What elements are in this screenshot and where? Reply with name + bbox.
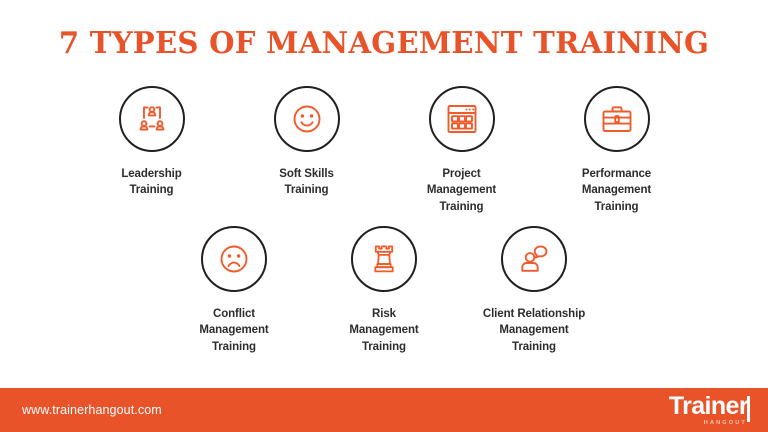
item-performance-management-training[interactable]: Performance Management Training xyxy=(539,86,694,215)
item-conflict-management-training[interactable]: Conflict Management Training xyxy=(159,226,309,355)
item-client-relationship-management-training[interactable]: Client Relationship Management Training xyxy=(459,226,609,355)
item-label: Project Management Training xyxy=(427,166,496,215)
item-project-management-training[interactable]: Project Management Training xyxy=(384,86,539,215)
logo-tagline: HANGOUT xyxy=(704,421,747,427)
item-risk-management-training[interactable]: Risk Management Training xyxy=(309,226,459,355)
icon-row-2: Conflict Management Training Risk Manage… xyxy=(0,226,768,355)
icon-row-1: Leadership Training Soft Skills Training xyxy=(0,86,768,215)
item-label: Leadership Training xyxy=(121,166,181,199)
briefcase-icon xyxy=(584,86,650,152)
item-label: Performance Management Training xyxy=(582,166,651,215)
leadership-people-icon xyxy=(119,86,185,152)
smiley-face-icon xyxy=(274,86,340,152)
footer-bar: www.trainerhangout.com Trainer HANGOUT xyxy=(0,388,768,432)
page-title: 7 TYPES OF MANAGEMENT TRAINING xyxy=(12,27,757,60)
trainer-hangout-logo[interactable]: Trainer HANGOUT xyxy=(669,394,750,427)
infographic-page: 7 TYPES OF MANAGEMENT TRAINING Leadershi… xyxy=(0,0,768,432)
item-label: Soft Skills Training xyxy=(279,166,334,199)
chess-rook-icon xyxy=(351,226,417,292)
item-label: Client Relationship Management Training xyxy=(483,306,585,355)
kanban-board-window-icon xyxy=(429,86,495,152)
person-speech-bubble-icon xyxy=(501,226,567,292)
item-label: Conflict Management Training xyxy=(199,306,268,355)
website-url[interactable]: www.trainerhangout.com xyxy=(22,403,162,417)
item-soft-skills-training[interactable]: Soft Skills Training xyxy=(229,86,384,199)
logo-accent-bar xyxy=(747,396,750,422)
item-leadership-training[interactable]: Leadership Training xyxy=(74,86,229,199)
sad-face-icon xyxy=(201,226,267,292)
logo-wordmark: Trainer xyxy=(669,394,748,419)
item-label: Risk Management Training xyxy=(349,306,418,355)
